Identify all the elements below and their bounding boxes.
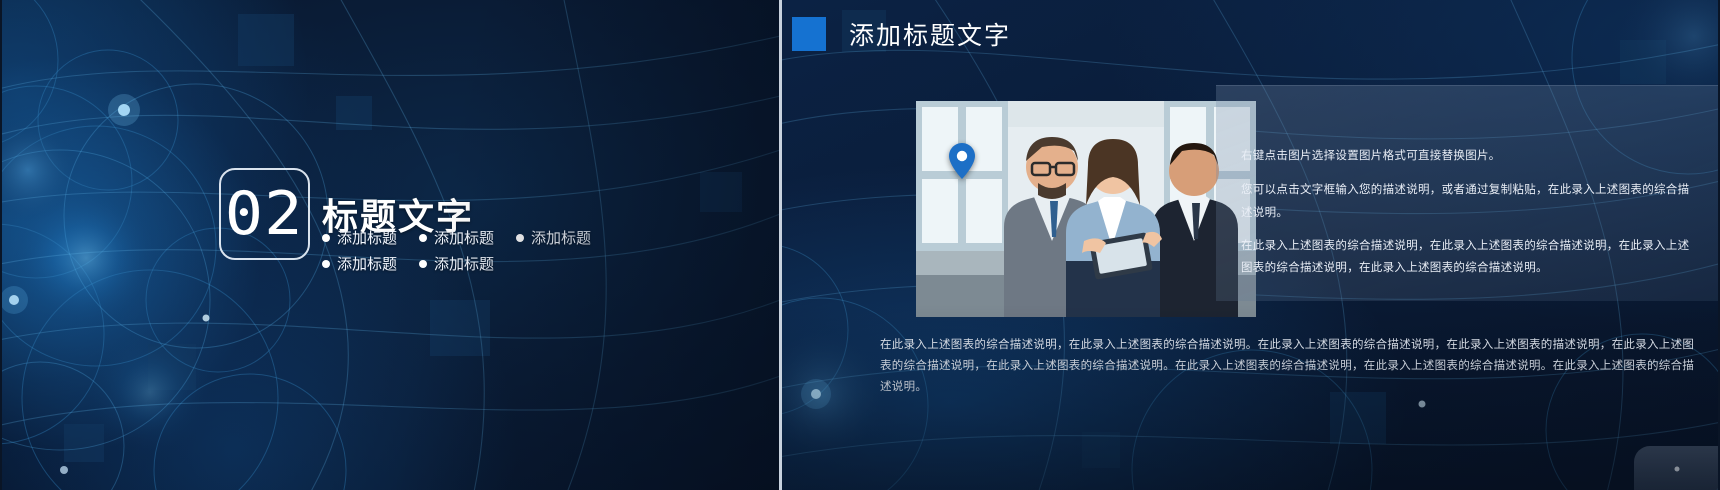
bullet-label: 添加标题 — [434, 227, 494, 248]
left-slide: 02 标题文字 添加标题 添加标题 添加标题 — [0, 0, 780, 490]
right-slide: 添加标题文字 — [782, 0, 1720, 490]
right-slide-header: 添加标题文字 — [792, 16, 1011, 52]
bullet-dot-icon — [419, 260, 427, 268]
bullet-label: 添加标题 — [434, 253, 494, 274]
photo-artwork — [916, 101, 1256, 317]
bullet-item[interactable]: 添加标题 — [516, 227, 591, 248]
bullet-label: 添加标题 — [337, 227, 397, 248]
panel-line-3: 在此录入上述图表的综合描述说明，在此录入上述图表的综合描述说明，在此录入上述图表… — [1241, 234, 1698, 279]
corner-handle[interactable] — [1634, 446, 1720, 490]
bullet-item[interactable]: 添加标题 — [322, 253, 397, 274]
panel-line-2: 您可以点击文字框输入您的描述说明，或者通过复制粘贴，在此录入上述图表的综合描述说… — [1241, 178, 1698, 224]
bullet-dot-icon — [322, 234, 330, 242]
bullet-item[interactable]: 添加标题 — [419, 227, 494, 248]
bullet-row-2: 添加标题 添加标题 — [322, 253, 652, 274]
bullet-item[interactable]: 添加标题 — [419, 253, 494, 274]
bullet-list: 添加标题 添加标题 添加标题 添加标题 添加标题 — [322, 227, 652, 279]
blue-square-icon — [792, 17, 826, 51]
map-pin-icon — [948, 143, 976, 179]
left-edge — [0, 0, 2, 490]
bullet-item[interactable]: 添加标题 — [322, 227, 397, 248]
bullet-label: 添加标题 — [337, 253, 397, 274]
corner-dot-icon — [1675, 466, 1680, 471]
section-number-badge: 02 — [219, 168, 310, 260]
bullet-dot-icon — [322, 260, 330, 268]
section-number: 02 — [225, 184, 304, 244]
bullet-row-1: 添加标题 添加标题 添加标题 — [322, 227, 652, 248]
business-team-photo[interactable] — [916, 101, 1256, 317]
slide-pair-canvas: 02 标题文字 添加标题 添加标题 添加标题 — [0, 0, 1720, 490]
bullet-label: 添加标题 — [531, 227, 591, 248]
bottom-paragraph: 在此录入上述图表的综合描述说明，在此录入上述图表的综合描述说明。在此录入上述图表… — [880, 334, 1700, 398]
bullet-dot-icon — [516, 234, 524, 242]
description-panel: 右键点击图片选择设置图片格式可直接替换图片。 您可以点击文字框输入您的描述说明，… — [1216, 85, 1720, 301]
right-slide-title: 添加标题文字 — [849, 16, 1011, 52]
bullet-dot-icon — [419, 234, 427, 242]
panel-line-1: 右键点击图片选择设置图片格式可直接替换图片。 — [1241, 144, 1698, 167]
